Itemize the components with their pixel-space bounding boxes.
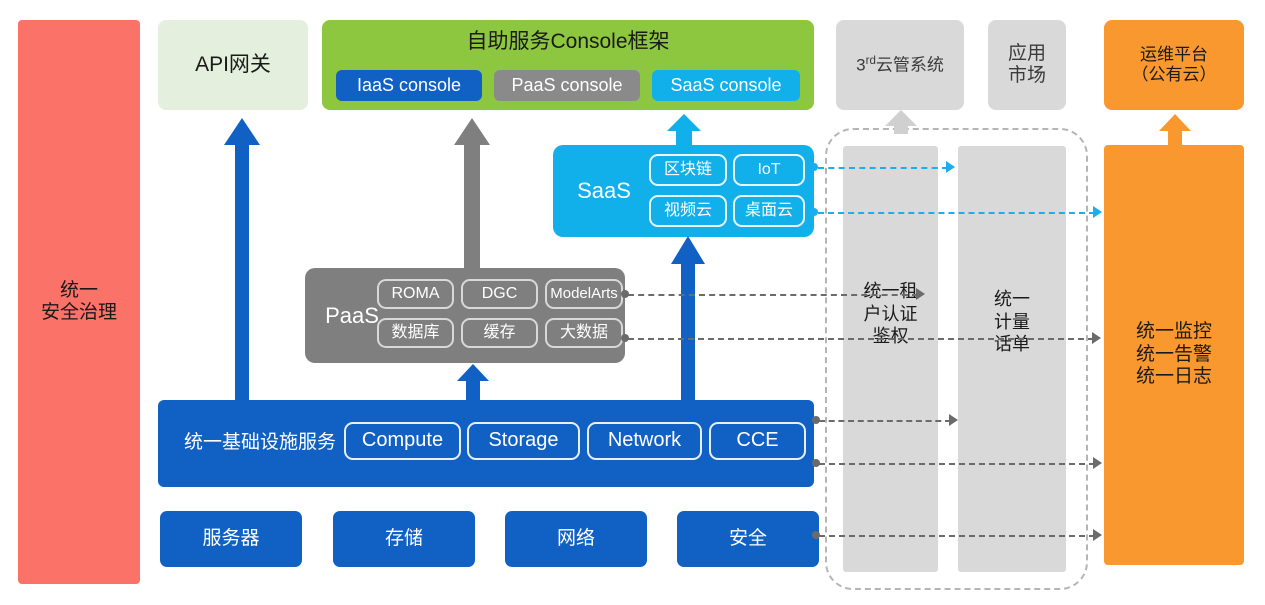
box-security-label: 安全 xyxy=(729,528,767,550)
box-third-party-cloud-management-label: 3rd云管系统 xyxy=(856,55,944,76)
connector-paas-to-ops xyxy=(628,338,1094,340)
architecture-diagram: 统一 安全治理 API网关 自助服务Console框架 IaaS console… xyxy=(0,0,1265,605)
pill-bigdata[interactable]: 大数据 xyxy=(545,318,623,348)
arrowhead-saas-to-ops xyxy=(1093,206,1102,218)
arrow-infra-to-saas xyxy=(668,236,708,402)
chip-iaas-console-label: IaaS console xyxy=(357,75,461,96)
arrowhead-saas-to-auth xyxy=(946,161,955,173)
arrowhead-paas-to-ops xyxy=(1092,332,1101,344)
chip-paas-console-label: PaaS console xyxy=(511,75,622,96)
box-servers-label: 服务器 xyxy=(202,528,259,550)
chip-paas-console[interactable]: PaaS console xyxy=(494,70,640,101)
column-unified-tenant-auth xyxy=(843,146,938,572)
group-infra-title: 统一基础设施服务 xyxy=(170,400,350,487)
pill-dgc[interactable]: DGC xyxy=(461,279,538,309)
pill-blockchain-label: 区块链 xyxy=(664,161,712,180)
pill-compute-label: Compute xyxy=(362,429,443,453)
pill-storage-label: Storage xyxy=(488,429,558,453)
box-network-label: 网络 xyxy=(557,528,595,550)
connector-bottom-to-ops xyxy=(819,535,1095,537)
box-api-gateway-label: API网关 xyxy=(195,53,271,78)
group-unified-infrastructure-services: 统一基础设施服务 Compute Storage Network CCE xyxy=(158,400,814,487)
pill-cache-label: 缓存 xyxy=(483,324,515,343)
panel-unified-monitoring-label: 统一监控 统一告警 统一日志 xyxy=(1136,321,1212,388)
group-saas: SaaS 区块链 IoT 视频云 桌面云 xyxy=(553,145,814,237)
box-security: 安全 xyxy=(677,511,819,567)
arrow-paas-to-console-framework xyxy=(452,118,492,270)
panel-unified-monitoring: 统一监控 统一告警 统一日志 xyxy=(1104,145,1244,565)
box-self-service-console-framework: 自助服务Console框架 IaaS console PaaS console … xyxy=(322,20,814,110)
box-ops-platform-public-cloud: 运维平台 （公有云） xyxy=(1104,20,1244,110)
pill-video-cloud-label: 视频云 xyxy=(664,202,712,221)
arrow-saas-to-saas-console xyxy=(664,114,704,148)
panel-unified-security-governance: 统一 安全治理 xyxy=(18,20,140,584)
box-servers: 服务器 xyxy=(160,511,302,567)
column-unified-tenant-auth-label: 统一租 户认证 鉴权 xyxy=(843,274,938,354)
connector-saas-to-auth xyxy=(818,167,948,169)
box-app-market: 应用 市场 xyxy=(988,20,1066,110)
pill-network[interactable]: Network xyxy=(587,422,702,460)
pill-compute[interactable]: Compute xyxy=(344,422,461,460)
chip-iaas-console[interactable]: IaaS console xyxy=(336,70,482,101)
panel-unified-security-governance-label: 统一 安全治理 xyxy=(41,280,117,325)
arrowhead-infra-to-ops xyxy=(1093,457,1102,469)
pill-desktop-cloud[interactable]: 桌面云 xyxy=(733,195,805,227)
connector-saas-to-ops xyxy=(818,212,1095,214)
pill-cache[interactable]: 缓存 xyxy=(461,318,538,348)
pill-bigdata-label: 大数据 xyxy=(560,324,608,343)
box-storage-label: 存储 xyxy=(385,528,423,550)
chip-saas-console[interactable]: SaaS console xyxy=(652,70,800,101)
box-api-gateway: API网关 xyxy=(158,20,308,110)
chip-saas-console-label: SaaS console xyxy=(670,75,781,96)
pill-roma-label: ROMA xyxy=(392,285,440,304)
pill-blockchain[interactable]: 区块链 xyxy=(649,154,727,186)
connector-dot-saas-1 xyxy=(810,163,818,171)
arrowhead-infra-to-auth xyxy=(949,414,958,426)
connector-infra-to-auth xyxy=(819,420,951,422)
arrow-infra-to-paas xyxy=(455,364,491,402)
pill-video-cloud[interactable]: 视频云 xyxy=(649,195,727,227)
column-unified-metering-billing-label: 统一 计量 话单 xyxy=(958,282,1066,362)
pill-database[interactable]: 数据库 xyxy=(377,318,454,348)
pill-dgc-label: DGC xyxy=(482,285,518,304)
pill-database-label: 数据库 xyxy=(391,324,439,343)
box-storage: 存储 xyxy=(333,511,475,567)
pill-network-label: Network xyxy=(608,429,681,453)
pill-roma[interactable]: ROMA xyxy=(377,279,454,309)
pill-desktop-cloud-label: 桌面云 xyxy=(745,202,793,221)
pill-iot-label: IoT xyxy=(757,161,780,180)
group-saas-title: SaaS xyxy=(563,145,645,237)
arrowhead-bottom-to-ops xyxy=(1093,529,1102,541)
pill-storage[interactable]: Storage xyxy=(467,422,580,460)
pill-modelarts[interactable]: ModelArts xyxy=(545,279,623,309)
group-paas: PaaS ROMA DGC ModelArts 数据库 缓存 大数据 xyxy=(305,268,625,363)
pill-iot[interactable]: IoT xyxy=(733,154,805,186)
arrowhead-paas-to-auth xyxy=(916,288,925,300)
arrow-monitoring-to-ops-platform xyxy=(1157,114,1193,148)
connector-paas-to-auth xyxy=(628,294,918,296)
connector-dot-saas-2 xyxy=(810,208,818,216)
arrow-infra-to-api-gateway xyxy=(222,118,262,402)
box-third-party-cloud-management: 3rd云管系统 xyxy=(836,20,964,110)
pill-cce[interactable]: CCE xyxy=(709,422,806,460)
arrow-shared-to-third-party xyxy=(883,110,919,134)
connector-infra-to-ops xyxy=(819,463,1095,465)
pill-cce-label: CCE xyxy=(736,429,778,453)
pill-modelarts-label: ModelArts xyxy=(550,285,618,303)
box-app-market-label: 应用 市场 xyxy=(1008,43,1046,88)
console-framework-title: 自助服务Console框架 xyxy=(322,30,814,55)
box-network: 网络 xyxy=(505,511,647,567)
box-ops-platform-public-cloud-label: 运维平台 （公有云） xyxy=(1132,45,1217,85)
